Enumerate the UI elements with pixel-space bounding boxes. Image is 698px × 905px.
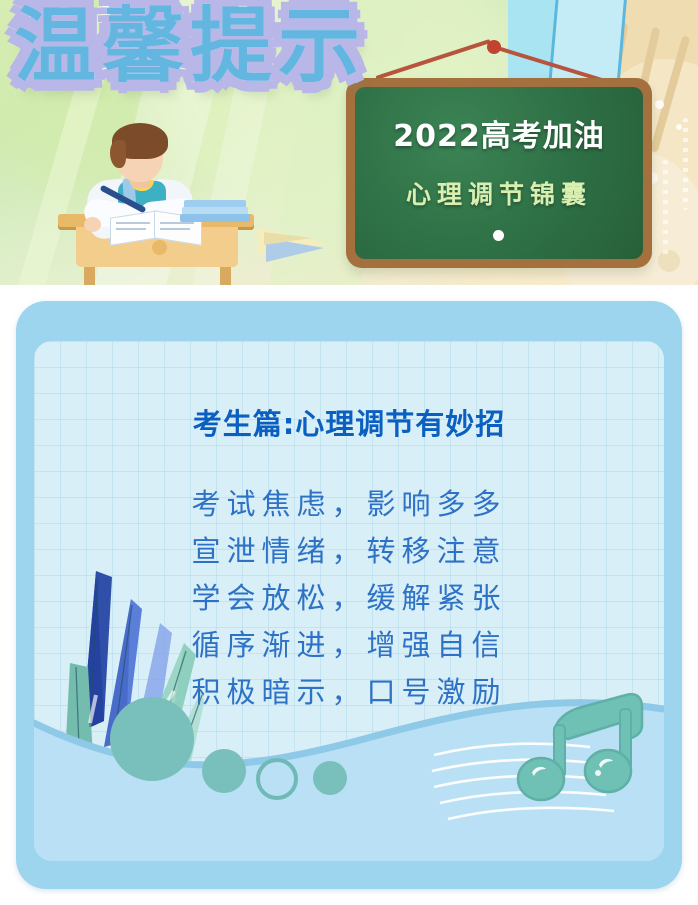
chalkboard-line-1: 2022高考加油	[393, 111, 605, 155]
sparkle-dot	[676, 124, 682, 130]
bubble-circle-small	[313, 761, 347, 795]
text-line	[160, 222, 194, 224]
hanger-knob	[487, 40, 501, 54]
chalkboard-hanger	[346, 36, 652, 80]
chalkboard: 2022高考加油 心理调节锦囊	[346, 36, 652, 268]
desk-leg	[84, 267, 95, 285]
text-line	[160, 228, 190, 230]
paper-plane-icon	[258, 222, 354, 270]
dotted-line	[663, 160, 668, 256]
header-banner: 2022高考加油 心理调节锦囊 温馨提示	[0, 0, 698, 285]
content-panel-inner: 考生篇:心理调节有妙招 考试焦虑，影响多多 宣泄情绪，转移注意 学会放松，缓解紧…	[34, 341, 664, 861]
text-line	[116, 228, 146, 230]
dotted-line	[683, 118, 688, 210]
content-panel: 考生篇:心理调节有妙招 考试焦虑，影响多多 宣泄情绪，转移注意 学会放松，缓解紧…	[16, 301, 682, 889]
desk-leg	[220, 267, 231, 285]
panel-lines: 考试焦虑，影响多多 宣泄情绪，转移注意 学会放松，缓解紧张 循序渐进，增强自信 …	[34, 481, 664, 716]
chalkboard-line-2: 心理调节锦囊	[406, 175, 592, 211]
note-sparkle	[595, 770, 601, 776]
panel-line: 循序渐进，增强自信	[34, 622, 664, 669]
chalkboard-surface: 2022高考加油 心理调节锦囊	[355, 87, 643, 259]
book-stack	[180, 214, 250, 222]
panel-heading: 考生篇:心理调节有妙招	[34, 401, 664, 443]
desk-knob	[152, 240, 167, 255]
panel-line: 积极暗示，口号激励	[34, 669, 664, 716]
note-head-right	[585, 750, 631, 792]
chalkboard-frame: 2022高考加油 心理调节锦囊	[346, 78, 652, 268]
text-line	[116, 222, 150, 224]
page-title: 温馨提示	[14, 6, 366, 88]
sparkle-dot	[658, 250, 680, 272]
panel-line: 宣泄情绪，转移注意	[34, 528, 664, 575]
bubble-circle-medium	[202, 749, 246, 793]
note-head-left	[518, 758, 564, 800]
hair-side	[110, 140, 126, 168]
panel-line: 学会放松，缓解紧张	[34, 575, 664, 622]
hand-left	[84, 217, 101, 232]
plane-wing-mid	[264, 232, 312, 245]
student-studying-illustration	[36, 118, 266, 285]
hanger-string-left	[375, 39, 490, 80]
sparkle-dot	[655, 100, 664, 109]
chalk-dot	[493, 230, 504, 241]
panel-line: 考试焦虑，影响多多	[34, 481, 664, 528]
